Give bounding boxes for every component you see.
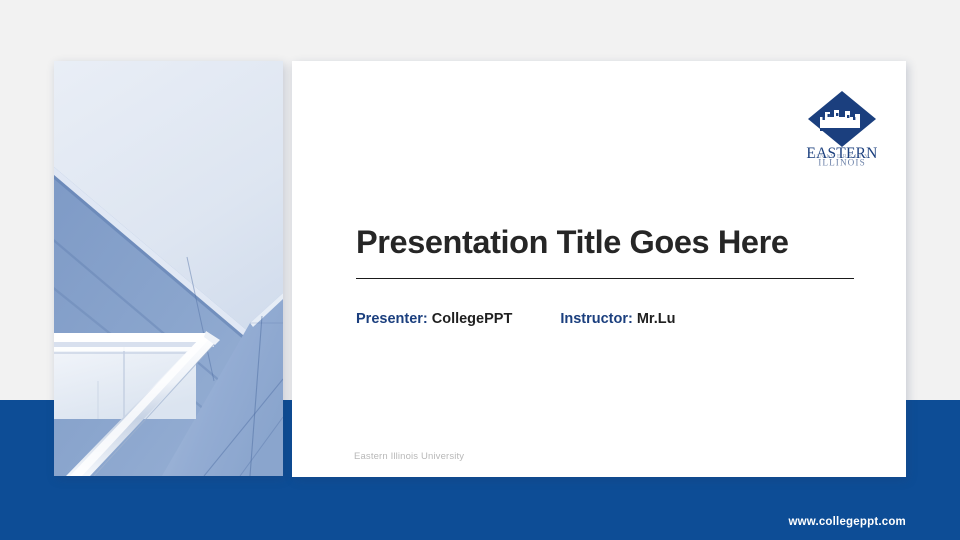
slide-card: EASTERN ILLINOIS UNIVERSITY Presentation… <box>292 61 906 477</box>
presenter-field: Presenter:CollegePPT <box>356 311 512 327</box>
site-url: www.collegeppt.com <box>788 516 906 528</box>
instructor-value: Mr.Lu <box>637 311 676 327</box>
title-divider <box>356 278 854 279</box>
instructor-label: Instructor: <box>560 311 633 327</box>
eastern-illinois-university-logo: EASTERN ILLINOIS UNIVERSITY <box>800 89 884 167</box>
page-title: Presentation Title Goes Here <box>356 224 854 261</box>
logo-wordmark-university: UNIVERSITY <box>800 153 884 160</box>
diamond-castle-emblem <box>808 91 876 147</box>
slide-footer: Eastern Illinois University <box>354 451 464 462</box>
presenter-value: CollegePPT <box>432 311 513 327</box>
meta-row: Presenter:CollegePPT Instructor:Mr.Lu <box>356 311 675 327</box>
title-block: Presentation Title Goes Here <box>356 224 854 279</box>
cover-photo <box>54 61 283 476</box>
instructor-field: Instructor:Mr.Lu <box>560 311 675 327</box>
presenter-label: Presenter: <box>356 311 428 327</box>
